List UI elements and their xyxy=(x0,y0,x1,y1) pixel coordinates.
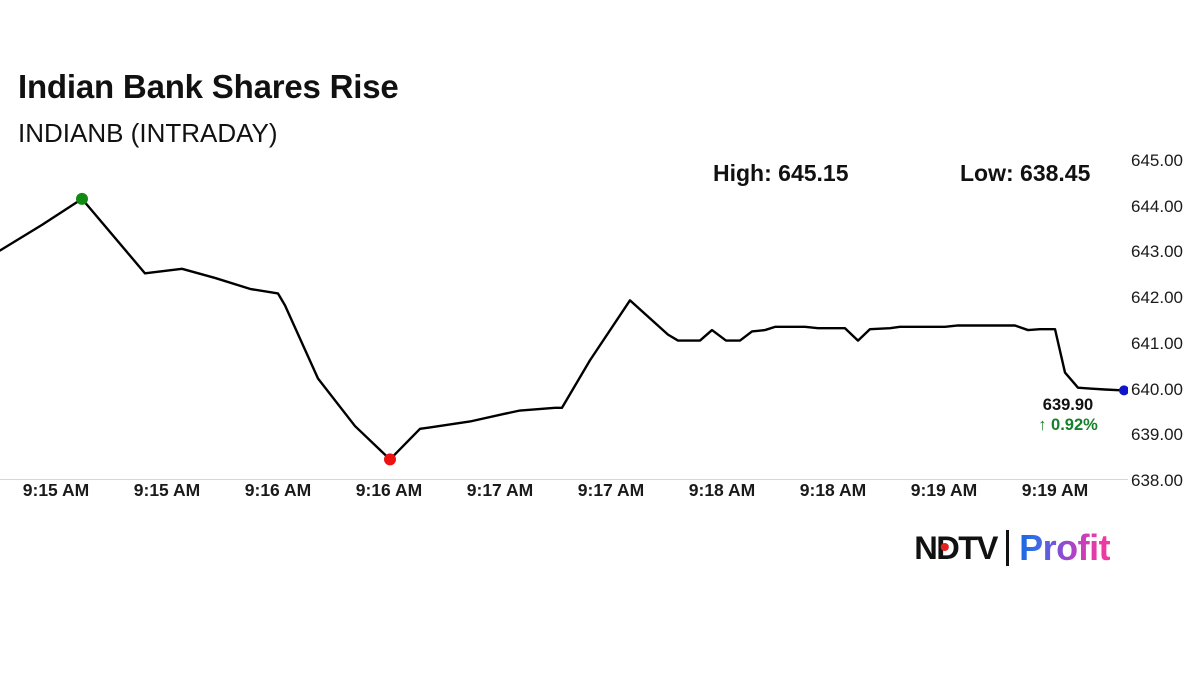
intraday-line-chart xyxy=(0,160,1128,480)
page-title: Indian Bank Shares Rise xyxy=(18,68,399,106)
price-line xyxy=(0,199,1124,460)
x-axis-tick-label: 9:17 AM xyxy=(467,482,533,500)
price-change-label: ↑ 0.92% xyxy=(1038,416,1098,435)
y-axis-tick-label: 643.00 xyxy=(1131,243,1183,260)
low-marker xyxy=(384,453,396,465)
chart-plot-area xyxy=(0,160,1128,480)
profit-wordmark: Profit xyxy=(1019,527,1110,569)
ndtv-profit-logo: NDTV Profit xyxy=(915,525,1110,571)
chart-subtitle: INDIANB (INTRADAY) xyxy=(18,118,278,149)
y-axis-tick-label: 640.00 xyxy=(1131,381,1183,398)
y-axis-tick-label: 638.00 xyxy=(1131,472,1183,489)
y-axis: 645.00644.00643.00642.00641.00640.00639.… xyxy=(1131,160,1200,480)
x-axis-tick-label: 9:16 AM xyxy=(245,482,311,500)
marker-group xyxy=(76,193,1128,466)
x-axis: 9:15 AM9:15 AM9:16 AM9:16 AM9:17 AM9:17 … xyxy=(0,482,1128,508)
x-axis-tick-label: 9:18 AM xyxy=(800,482,866,500)
last-price-label: 639.90 xyxy=(1043,396,1093,415)
ndtv-text: NDTV xyxy=(914,530,997,566)
last-marker xyxy=(1119,385,1128,395)
y-axis-tick-label: 641.00 xyxy=(1131,335,1183,352)
x-axis-tick-label: 9:18 AM xyxy=(689,482,755,500)
x-axis-tick-label: 9:17 AM xyxy=(578,482,644,500)
y-axis-tick-label: 642.00 xyxy=(1131,289,1183,306)
x-axis-tick-label: 9:15 AM xyxy=(23,482,89,500)
chart-card: Indian Bank Shares Rise INDIANB (INTRADA… xyxy=(0,0,1200,675)
y-axis-tick-label: 645.00 xyxy=(1131,152,1183,169)
high-marker xyxy=(76,193,88,205)
y-axis-tick-label: 639.00 xyxy=(1131,426,1183,443)
ndtv-red-dot-icon xyxy=(941,543,949,551)
x-axis-tick-label: 9:15 AM xyxy=(134,482,200,500)
y-axis-tick-label: 644.00 xyxy=(1131,198,1183,215)
x-axis-tick-label: 9:16 AM xyxy=(356,482,422,500)
x-axis-tick-label: 9:19 AM xyxy=(911,482,977,500)
logo-divider xyxy=(1006,530,1009,566)
x-axis-tick-label: 9:19 AM xyxy=(1022,482,1088,500)
ndtv-wordmark: NDTV xyxy=(914,530,997,567)
